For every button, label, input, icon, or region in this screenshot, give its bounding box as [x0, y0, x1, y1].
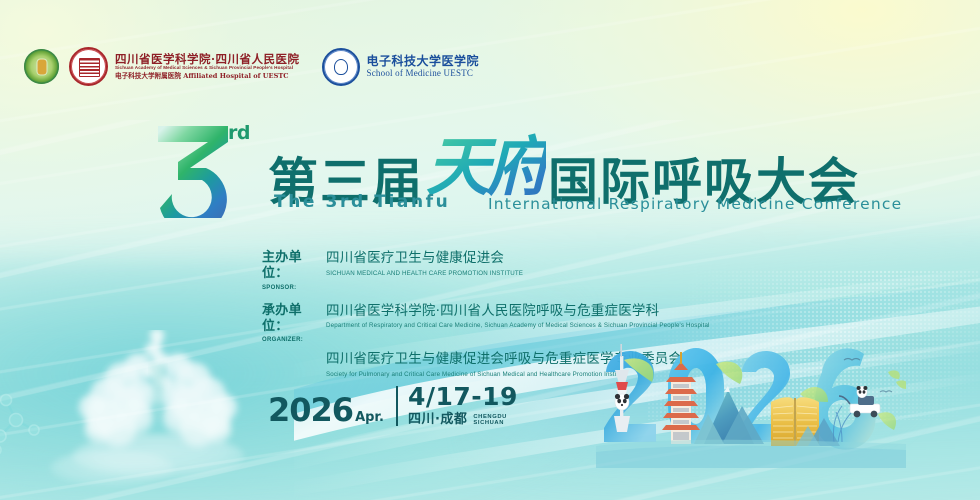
panda: [615, 394, 629, 410]
uestc-medicine-seal-icon: [322, 48, 360, 86]
event-city-cn: 四川·成都: [408, 413, 467, 426]
hospital-seal-icon: [69, 47, 108, 86]
sichuan-health-emblem-icon: [24, 49, 59, 84]
logo-uestc-medicine: 电子科技大学医学院 School of Medicine UESTC: [322, 48, 480, 86]
logo-sichuan-health-emblem: [24, 49, 59, 84]
title-english-part1: The 3rd Tianfu: [274, 192, 450, 212]
year-2026-illustration: [596, 338, 906, 468]
date-divider: [396, 386, 398, 426]
sponsor-name-cn: 四川省医疗卫生与健康促进会: [326, 250, 762, 268]
hospital-name-cn: 四川省医学科学院·四川省人民医院: [115, 53, 300, 65]
event-year: 2026: [268, 394, 353, 426]
organizer-label-cn: 承办单位：: [262, 303, 326, 336]
uestc-name-en: School of Medicine UESTC: [367, 69, 480, 79]
uestc-name-cn: 电子科技大学医学院: [367, 55, 480, 68]
hospital-name-en: Sichuan Academy of Medical Sciences & Si…: [115, 66, 300, 71]
organizer-name-cn: 四川省医学科学院·四川省人民医院呼吸与危重症医学科: [326, 303, 762, 321]
event-month: Apr.: [355, 410, 384, 425]
event-city-en-line2: SICHUAN: [473, 420, 507, 426]
organizer-logos: 四川省医学科学院·四川省人民医院 Sichuan Academy of Medi…: [24, 47, 479, 86]
ordinal-suffix: rd: [228, 122, 250, 144]
organizer-label-en: ORGANIZER:: [262, 337, 326, 343]
sponsor-label-en: SPONSOR:: [262, 285, 326, 291]
organizer-row: 承办单位： ORGANIZER: 四川省医学科学院·四川省人民医院呼吸与危重症医…: [262, 303, 762, 344]
sponsor-label-cn: 主办单位：: [262, 250, 326, 283]
organizer-name-en: Department of Respiratory and Critical C…: [326, 322, 762, 330]
title-english-part2: International Respiratory Medicine Confe…: [488, 195, 902, 213]
sponsor-name-en: SICHUAN MEDICAL AND HEALTH CARE PROMOTIO…: [326, 270, 762, 278]
event-date-block: 2026 Apr. 4/17-19 四川·成都 CHENGDU SICHUAN: [268, 384, 518, 426]
logo-sichuan-provincial-hospital: 四川省医学科学院·四川省人民医院 Sichuan Academy of Medi…: [69, 47, 300, 86]
hospital-affiliation: 电子科技大学附属医院 Affiliated Hospital of UESTC: [115, 73, 300, 80]
conference-title-block: rd 第三届天府国际呼吸大会 The 3rd Tianfu Internatio…: [150, 110, 910, 222]
sponsor-row: 主办单位： SPONSOR: 四川省医疗卫生与健康促进会 SICHUAN MED…: [262, 250, 762, 291]
event-days: 4/17-19: [408, 384, 518, 409]
conference-poster: 四川省医学科学院·四川省人民医院 Sichuan Academy of Medi…: [0, 0, 980, 500]
molecule-icon: [0, 392, 46, 454]
floating-leaves: [888, 370, 906, 389]
cloud-lungs-illustration: [42, 330, 272, 495]
